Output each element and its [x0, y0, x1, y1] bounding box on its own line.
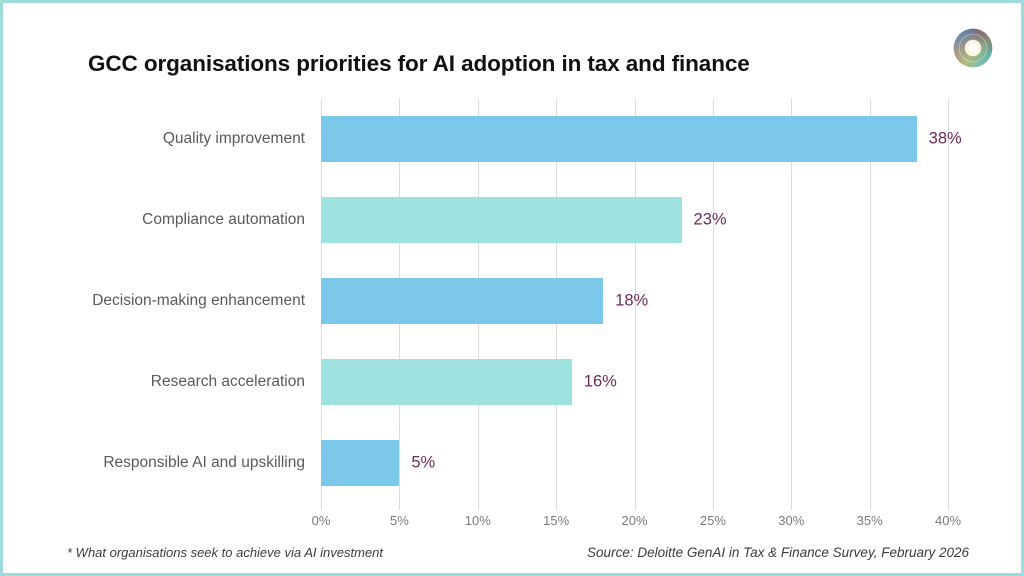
x-tick-label: 30% — [778, 513, 804, 528]
category-label: Quality improvement — [3, 130, 305, 148]
x-tick-mark — [948, 503, 949, 510]
source-citation: Source: Deloitte GenAI in Tax & Finance … — [587, 545, 969, 560]
category-axis: Quality improvementCompliance automation… — [3, 99, 305, 503]
category-label: Research acceleration — [3, 373, 305, 391]
x-tick-mark — [635, 503, 636, 510]
page-title: GCC organisations priorities for AI adop… — [88, 51, 750, 77]
gridline — [948, 99, 949, 503]
value-axis: 0%5%10%15%20%25%30%35%40% — [321, 503, 948, 533]
bar-value-label: 23% — [694, 211, 727, 230]
x-tick-label: 10% — [465, 513, 491, 528]
bar-value-label: 38% — [929, 130, 962, 149]
bar[interactable] — [321, 278, 603, 324]
category-label: Decision-making enhancement — [3, 292, 305, 310]
x-tick-label: 35% — [857, 513, 883, 528]
category-label: Responsible AI and upskilling — [3, 454, 305, 472]
x-tick-label: 5% — [390, 513, 409, 528]
x-tick-mark — [713, 503, 714, 510]
x-tick-mark — [791, 503, 792, 510]
x-tick-mark — [870, 503, 871, 510]
bar-value-label: 16% — [584, 372, 617, 391]
plot-area: 38%23%18%16%5% — [321, 99, 948, 503]
x-tick-label: 15% — [543, 513, 569, 528]
slide-canvas: GCC organisations priorities for AI adop… — [0, 0, 1024, 576]
x-tick-label: 25% — [700, 513, 726, 528]
bar-chart: 38%23%18%16%5% Quality improvementCompli… — [3, 99, 1024, 503]
bar-value-label: 5% — [411, 453, 435, 472]
x-tick-label: 0% — [312, 513, 331, 528]
bar[interactable] — [321, 359, 572, 405]
x-tick-mark — [399, 503, 400, 510]
bar-value-label: 18% — [615, 292, 648, 311]
x-tick-label: 20% — [621, 513, 647, 528]
x-tick-mark — [321, 503, 322, 510]
bar[interactable] — [321, 197, 682, 243]
x-tick-mark — [478, 503, 479, 510]
x-tick-label: 40% — [935, 513, 961, 528]
brand-ring-logo — [950, 25, 996, 71]
x-tick-mark — [556, 503, 557, 510]
footnote-text: * What organisations seek to achieve via… — [67, 545, 383, 560]
category-label: Compliance automation — [3, 211, 305, 229]
bar[interactable] — [321, 116, 917, 162]
bar[interactable] — [321, 440, 399, 486]
